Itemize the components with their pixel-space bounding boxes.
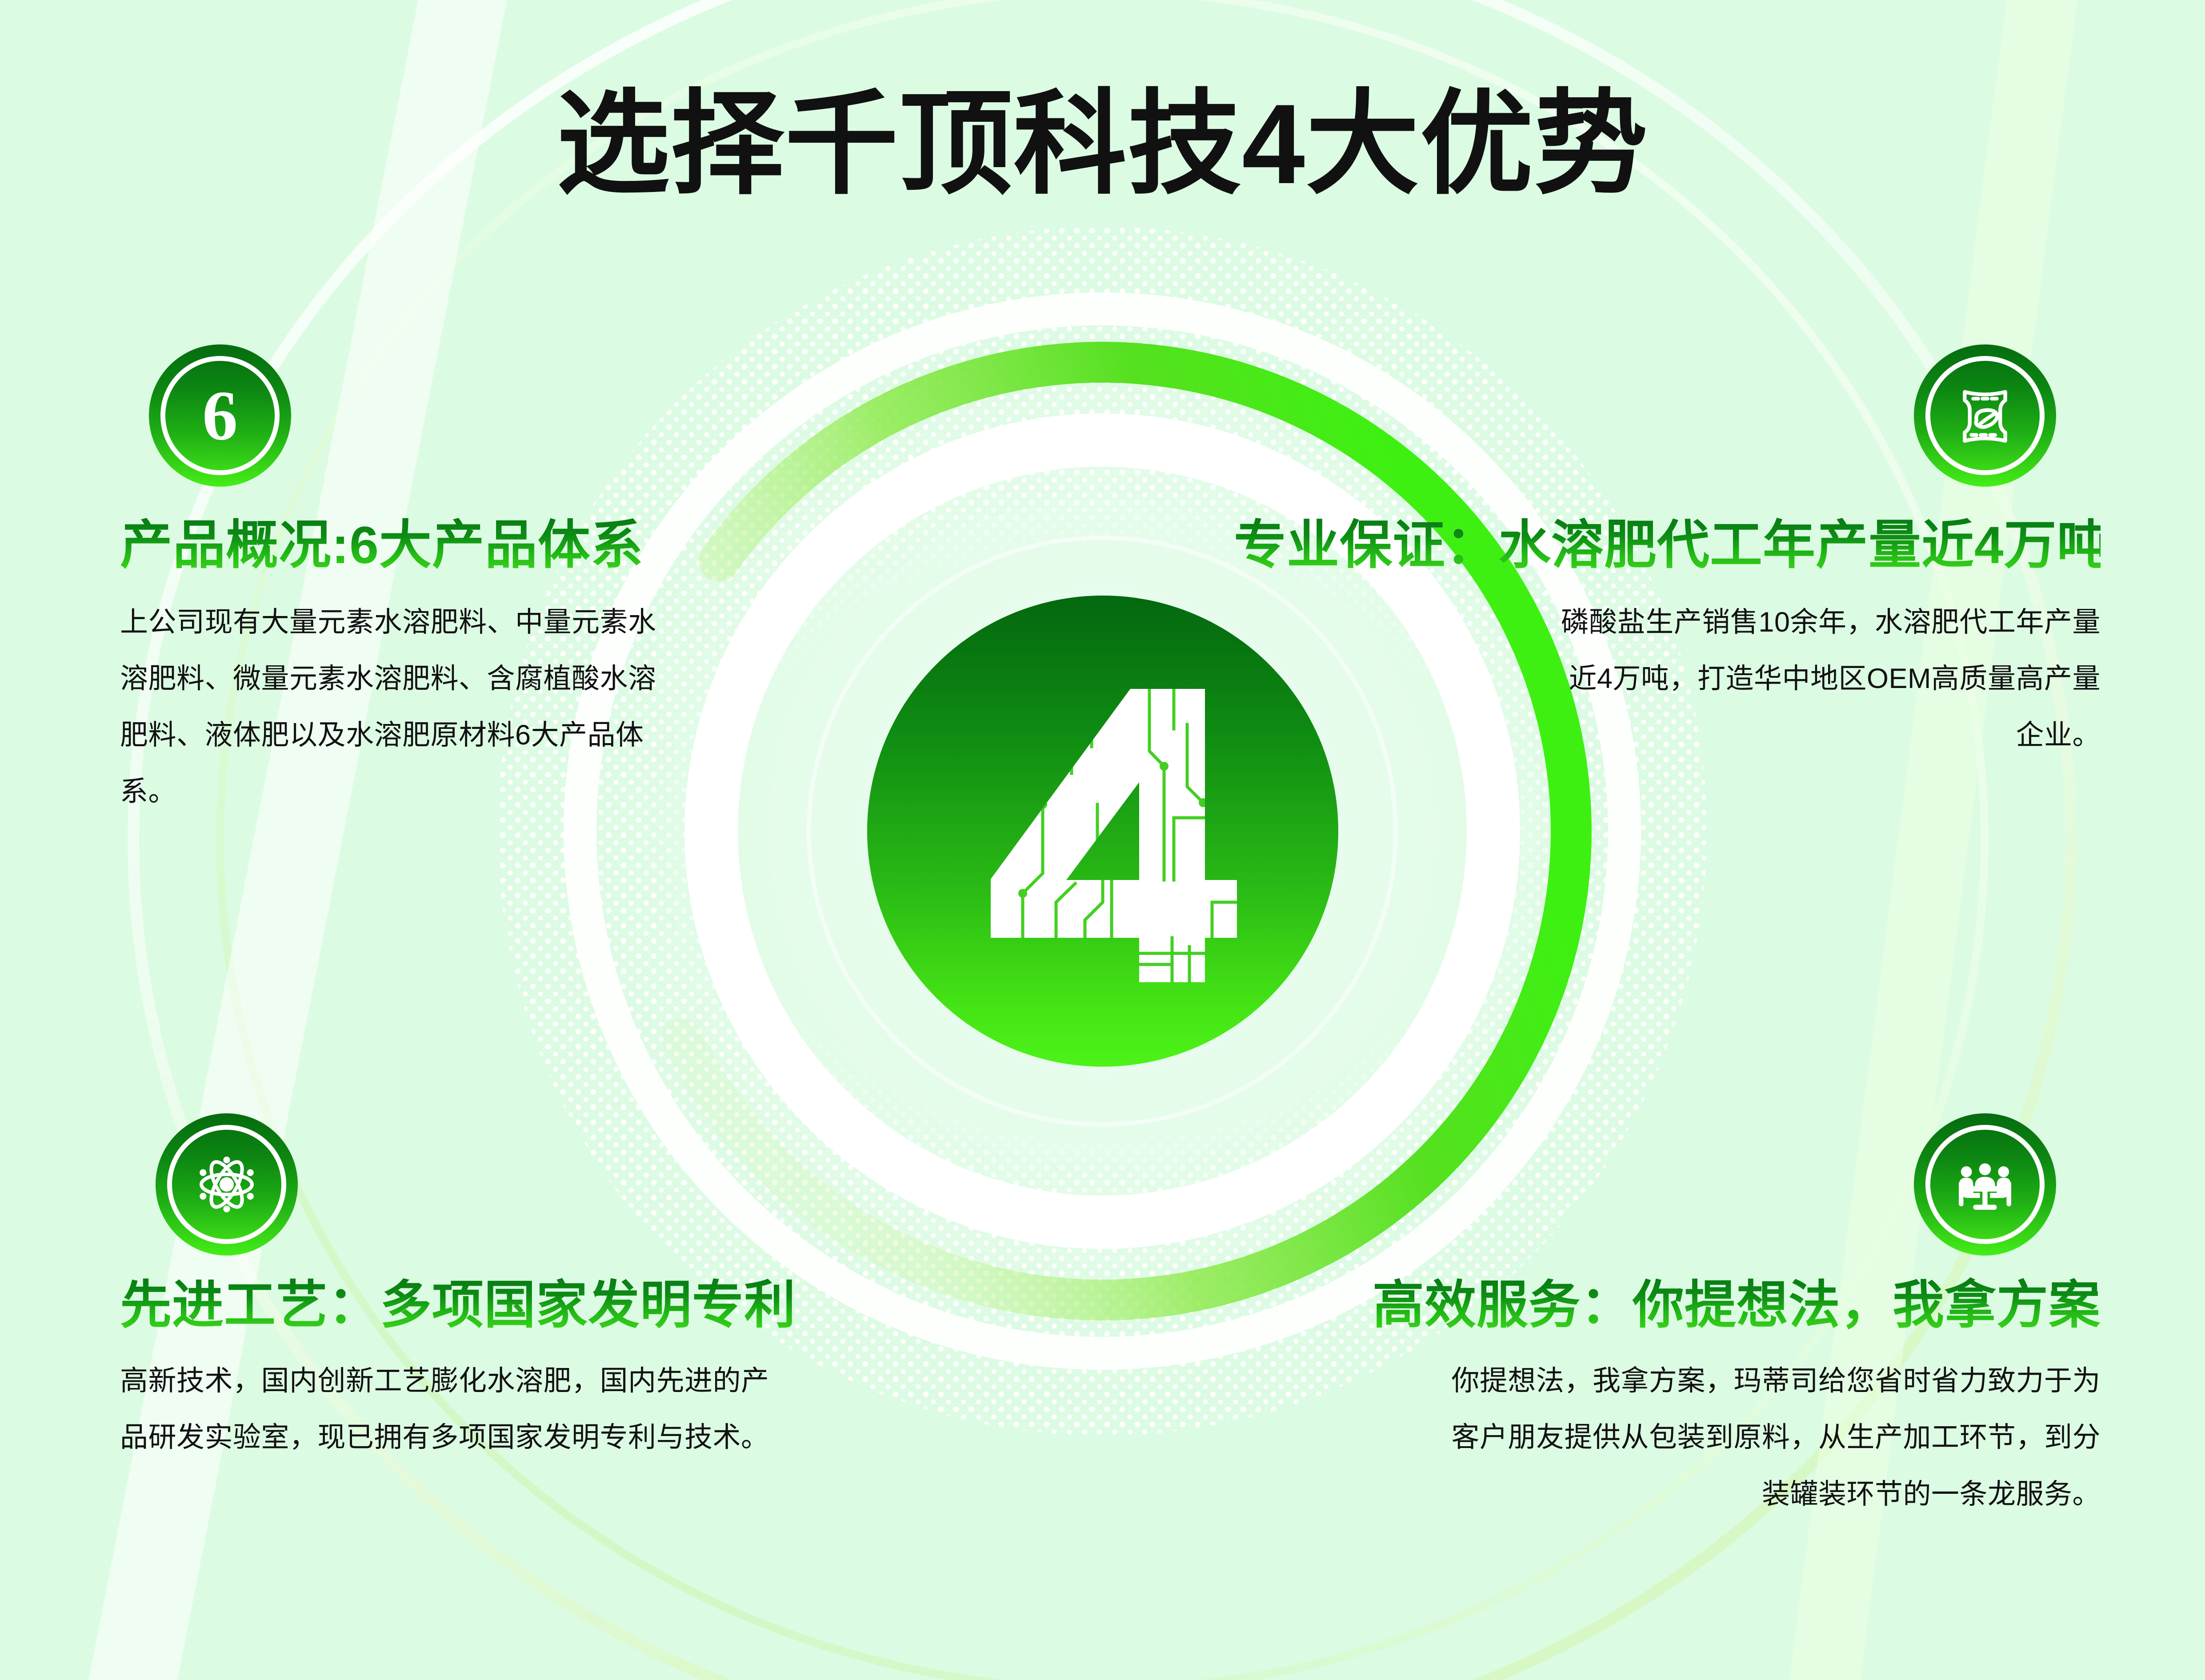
quadrant-heading: 产品概况:6大产品体系 [120, 516, 720, 576]
quadrant-professional-guarantee: 专业保证：水溶肥代工年产量近4万吨 磷酸盐生产销售10余年，水溶肥代工年产量近4… [1234, 516, 2101, 764]
numeral-four-shape [991, 689, 1237, 982]
icon-badge-professional-guarantee [1914, 344, 2056, 487]
page-title: 选择千顶科技4大优势 [0, 82, 2205, 207]
icon-badge-product-overview: 6 [149, 344, 291, 487]
meeting-team-icon [1943, 1142, 2027, 1227]
quadrant-heading: 高效服务：你提想法，我拿方案 [1318, 1276, 2101, 1334]
quadrant-product-overview: 产品概况:6大产品体系 上公司现有大量元素水溶肥料、中量元素水溶肥料、微量元素水… [120, 516, 720, 820]
quadrant-heading: 专业保证：水溶肥代工年产量近4万吨 [1234, 516, 2101, 576]
number-six-icon: 6 [178, 373, 262, 458]
quadrant-body: 你提想法，我拿方案，玛蒂司给您省时省力致力于为客户朋友提供从包装到原料，从生产加… [1447, 1353, 2101, 1523]
quadrant-body: 上公司现有大量元素水溶肥料、中量元素水溶肥料、微量元素水溶肥料、含腐植酸水溶肥料… [120, 594, 664, 820]
quadrant-efficient-service: 高效服务：你提想法，我拿方案 你提想法，我拿方案，玛蒂司给您省时省力致力于为客户… [1318, 1276, 2101, 1523]
quadrant-advanced-process: 先进工艺：多项国家发明专利 高新技术，国内创新工艺膨化水溶肥，国内先进的产品研发… [120, 1276, 902, 1466]
fertilizer-bag-icon [1943, 373, 2027, 458]
svg-text:6: 6 [202, 376, 238, 455]
quadrant-body: 高新技术，国内创新工艺膨化水溶肥，国内先进的产品研发实验室，现已拥有多项国家发明… [120, 1353, 773, 1466]
quadrant-heading: 先进工艺：多项国家发明专利 [120, 1276, 902, 1334]
atom-icon [184, 1142, 269, 1227]
icon-badge-advanced-process [156, 1113, 298, 1256]
quadrant-body: 磷酸盐生产销售10余年，水溶肥代工年产量近4万吨，打造华中地区OEM高质量高产量… [1556, 594, 2101, 764]
icon-badge-efficient-service [1914, 1113, 2056, 1256]
